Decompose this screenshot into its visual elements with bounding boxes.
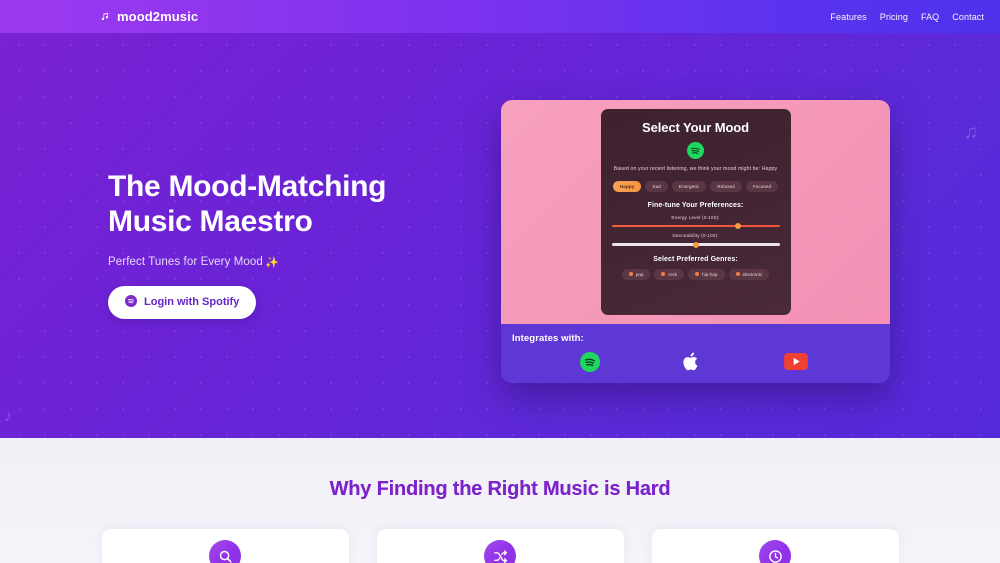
- search-icon: [209, 540, 241, 563]
- login-button-label: Login with Spotify: [144, 296, 239, 308]
- integration-icons: [512, 351, 890, 372]
- feature-card[interactable]: [652, 529, 899, 563]
- energy-slider-thumb[interactable]: [735, 223, 741, 229]
- apple-icon[interactable]: [683, 351, 701, 372]
- features-heading: Why Finding the Right Music is Hard: [0, 478, 1000, 501]
- integrations-bar: Integrates with:: [501, 324, 890, 383]
- integrations-label: Integrates with:: [512, 333, 890, 344]
- feature-cards-row: [0, 529, 1000, 563]
- danceability-slider-thumb[interactable]: [693, 242, 699, 248]
- mood-chip-happy[interactable]: Happy: [613, 181, 642, 192]
- hero-content: The Mood-Matching Music Maestro Perfect …: [108, 170, 508, 319]
- nav-link-contact[interactable]: Contact: [952, 12, 984, 22]
- sparkles-icon: ✨: [265, 256, 279, 269]
- hero-subtitle: Perfect Tunes for Every Mood ✨: [108, 256, 508, 269]
- spotify-icon: [125, 295, 137, 310]
- energy-slider-label: Energy Level (0-100):: [610, 216, 782, 221]
- mood-chip-focused[interactable]: Focused: [746, 181, 778, 192]
- danceability-slider-block: Danceability (0-100):: [610, 234, 782, 246]
- navbar: mood2music Features Pricing FAQ Contact: [0, 0, 1000, 33]
- genre-chip-label: hip-hop: [702, 272, 717, 277]
- hero-subtitle-text: Perfect Tunes for Every Mood: [108, 256, 263, 268]
- danceability-slider[interactable]: [612, 243, 780, 246]
- page-title: The Mood-Matching Music Maestro: [108, 170, 508, 240]
- energy-slider-block: Energy Level (0-100):: [610, 216, 782, 228]
- mood-card-inner: Select Your Mood Based on your recent li…: [601, 109, 791, 315]
- genre-chip-row: pop rock hip-hop electronic: [610, 269, 782, 280]
- genre-dot-icon: [661, 272, 665, 276]
- hero-section: mood2music Features Pricing FAQ Contact …: [0, 0, 1000, 438]
- genre-chip-label: electronic: [743, 272, 763, 277]
- danceability-slider-label: Danceability (0-100):: [610, 234, 782, 239]
- youtube-icon[interactable]: [784, 353, 808, 370]
- floating-music-note-icon: ♪: [4, 408, 12, 426]
- mood-chip-sad[interactable]: Sad: [645, 181, 667, 192]
- brand-name: mood2music: [117, 9, 198, 24]
- energy-slider[interactable]: [612, 225, 780, 228]
- genres-heading: Select Preferred Genres:: [610, 256, 782, 263]
- feature-card[interactable]: [377, 529, 624, 563]
- mood-card-title: Select Your Mood: [610, 120, 782, 135]
- genre-chip-electronic[interactable]: electronic: [729, 269, 770, 280]
- preferences-heading: Fine-tune Your Preferences:: [610, 202, 782, 209]
- brand-logo[interactable]: mood2music: [100, 9, 198, 24]
- mood-chip-relaxed[interactable]: Relaxed: [710, 181, 742, 192]
- nav-link-pricing[interactable]: Pricing: [880, 12, 908, 22]
- mood-card: Select Your Mood Based on your recent li…: [501, 100, 890, 324]
- nav-links: Features Pricing FAQ Contact: [830, 12, 984, 22]
- genre-dot-icon: [736, 272, 740, 276]
- shuffle-icon: [484, 540, 516, 563]
- floating-music-note-icon: ♫: [964, 122, 978, 144]
- genre-chip-label: pop: [636, 272, 644, 277]
- clock-icon: [759, 540, 791, 563]
- genre-dot-icon: [695, 272, 699, 276]
- feature-card[interactable]: [102, 529, 349, 563]
- genre-dot-icon: [629, 272, 633, 276]
- mood-chip-row: Happy Sad Energetic Relaxed Focused: [610, 181, 782, 192]
- landing-page: mood2music Features Pricing FAQ Contact …: [0, 0, 1000, 563]
- spotify-icon[interactable]: [580, 352, 600, 372]
- hero-title-line-1: The Mood-Matching: [108, 170, 386, 203]
- nav-link-features[interactable]: Features: [830, 12, 866, 22]
- genre-chip-rock[interactable]: rock: [654, 269, 684, 280]
- spotify-icon: [610, 142, 782, 159]
- genre-chip-hip-hop[interactable]: hip-hop: [688, 269, 724, 280]
- mood-selector-panel: Select Your Mood Based on your recent li…: [501, 100, 890, 383]
- hero-title-line-2: Music Maestro: [108, 205, 313, 238]
- genre-chip-pop[interactable]: pop: [622, 269, 651, 280]
- genre-chip-label: rock: [668, 272, 677, 277]
- mood-description: Based on your recent listening, we think…: [610, 165, 782, 174]
- nav-link-faq[interactable]: FAQ: [921, 12, 939, 22]
- login-with-spotify-button[interactable]: Login with Spotify: [108, 286, 256, 319]
- mood-chip-energetic[interactable]: Energetic: [672, 181, 706, 192]
- music-note-icon: [100, 11, 111, 22]
